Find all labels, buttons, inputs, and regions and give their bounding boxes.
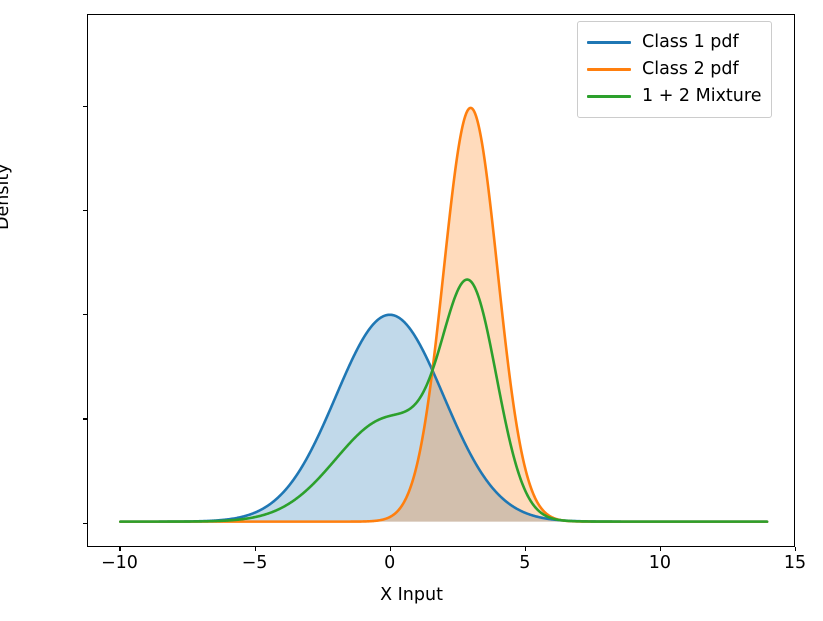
x-tick-label: 0 xyxy=(350,555,430,573)
legend-color-swatch xyxy=(587,41,631,44)
x-tick-label: 10 xyxy=(620,555,700,573)
x-axis-label: X Input xyxy=(0,585,823,605)
x-tick-mark xyxy=(390,547,391,551)
x-tick-label: −5 xyxy=(215,555,295,573)
x-tick-mark xyxy=(525,547,526,551)
matplotlib-figure: Density 0.00.10.20.30.4 −10−5051015 X In… xyxy=(0,0,823,621)
x-tick-mark xyxy=(660,547,661,551)
x-tick-mark xyxy=(119,547,120,551)
legend-item[interactable]: 1 + 2 Mixture xyxy=(587,83,761,110)
x-tick-label: 5 xyxy=(485,555,565,573)
legend-item[interactable]: Class 1 pdf xyxy=(587,29,761,56)
x-tick-mark xyxy=(795,547,796,551)
chart-legend: Class 1 pdfClass 2 pdf1 + 2 Mixture xyxy=(577,21,772,118)
legend-color-swatch xyxy=(587,68,631,71)
legend-label: Class 2 pdf xyxy=(642,61,739,79)
series-fill xyxy=(120,108,767,522)
x-tick-label: 15 xyxy=(755,555,823,573)
legend-label: 1 + 2 Mixture xyxy=(642,88,761,106)
legend-label: Class 1 pdf xyxy=(642,34,739,52)
y-axis-label: Density xyxy=(0,163,13,230)
x-tick-mark xyxy=(255,547,256,551)
legend-item[interactable]: Class 2 pdf xyxy=(587,56,761,83)
x-tick-label: −10 xyxy=(79,555,159,573)
legend-color-swatch xyxy=(587,95,631,98)
